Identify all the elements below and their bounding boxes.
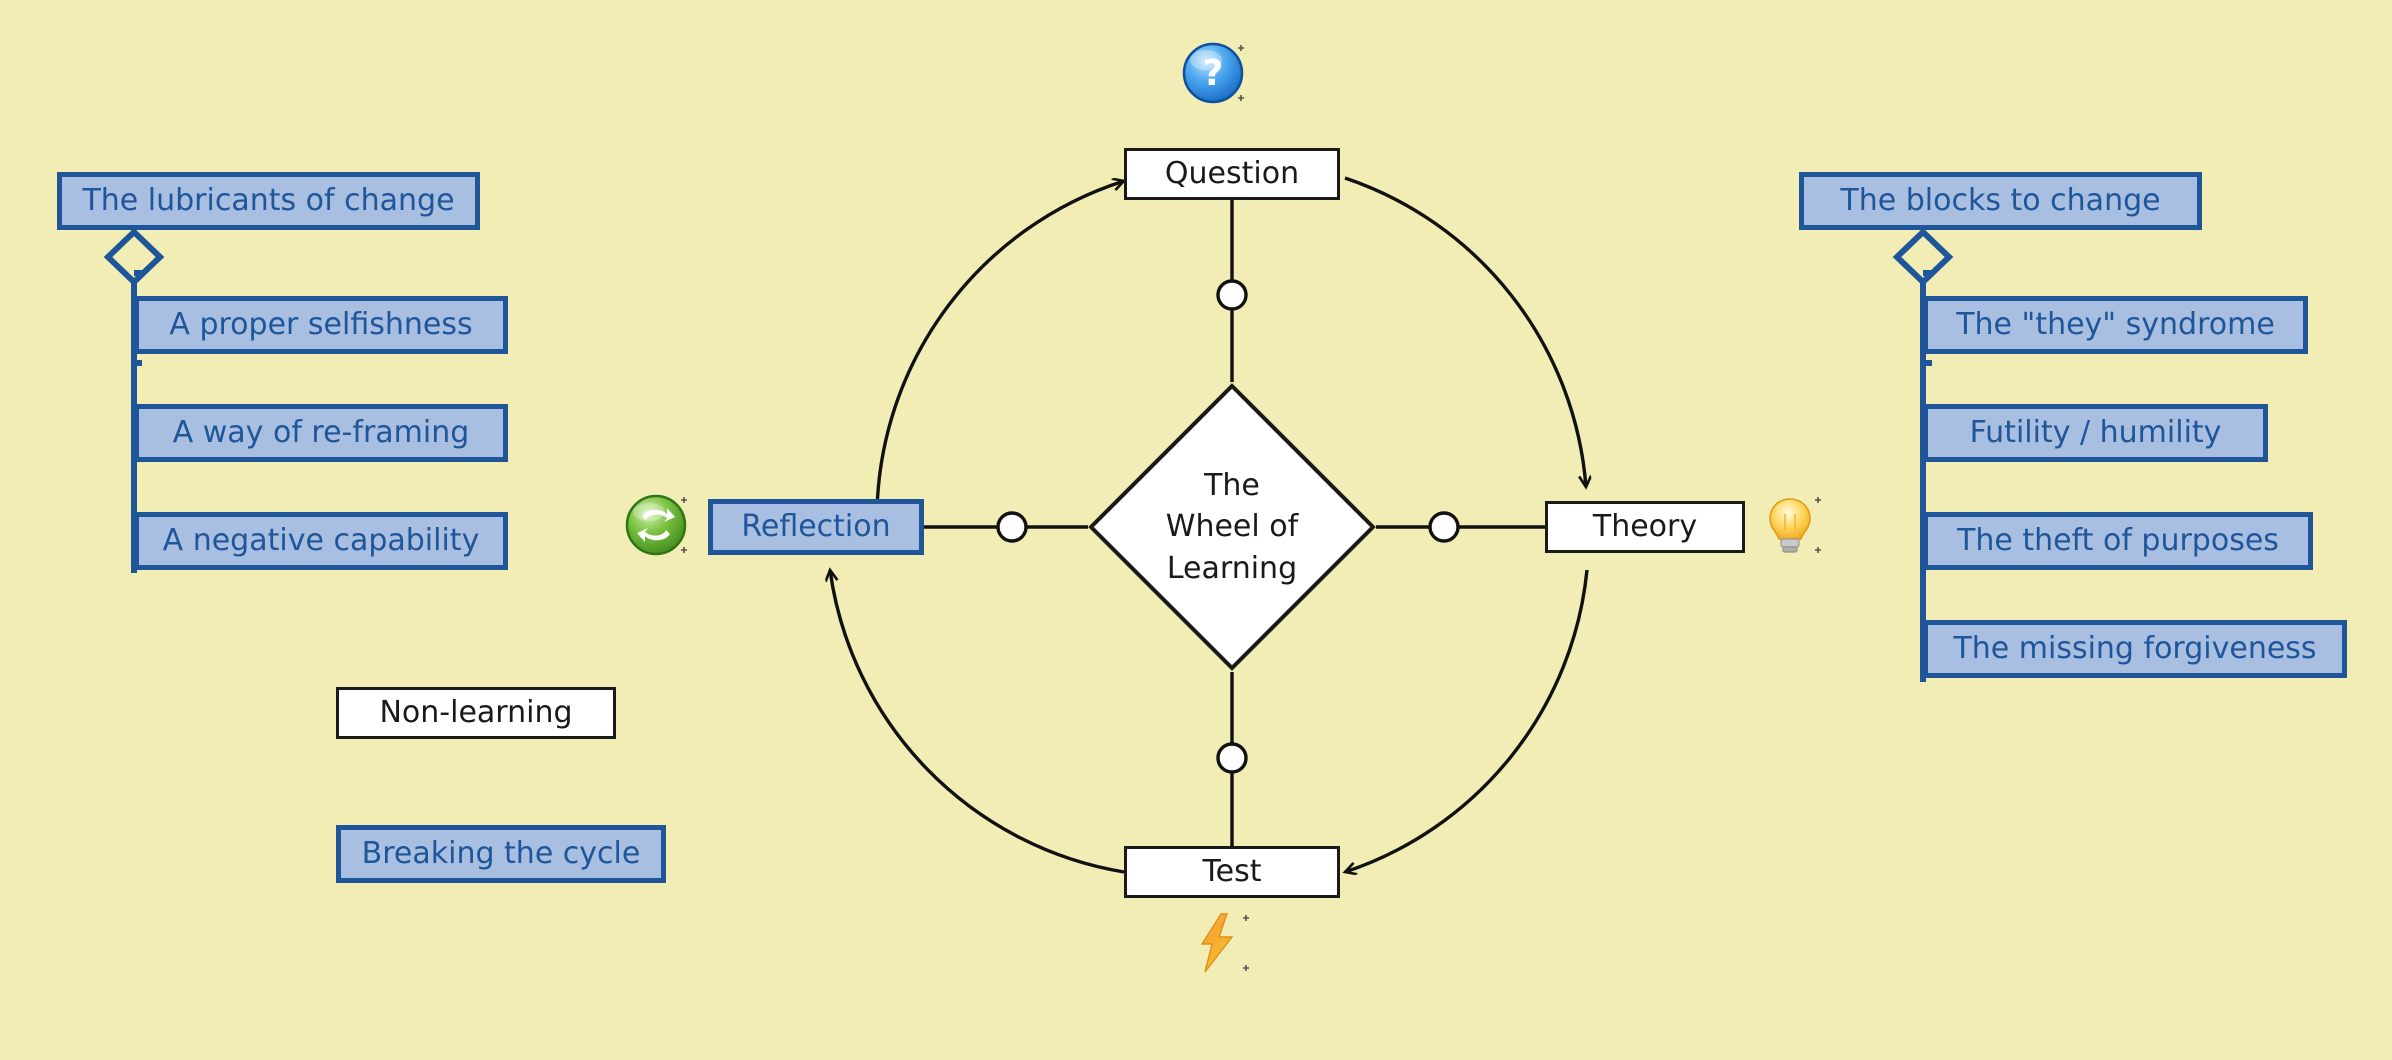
selection-handles	[1180, 40, 1246, 106]
node-test-label: Test	[1202, 857, 1261, 887]
left-group-title[interactable]: The lubricants of change	[57, 172, 480, 230]
edge-question-to-theory	[1345, 178, 1586, 487]
left-group-item-2[interactable]: A way of re-framing	[134, 404, 508, 462]
lightbulb-icon[interactable]	[1757, 492, 1823, 558]
spoke-endpoint-test	[1218, 744, 1246, 772]
node-non-learning[interactable]: Non-learning	[336, 687, 616, 739]
node-breaking-the-cycle-label: Breaking the cycle	[362, 839, 641, 869]
left-group-item-1[interactable]: A proper selfishness	[134, 296, 508, 354]
selection-handles	[1185, 910, 1251, 976]
edge-theory-to-test	[1345, 570, 1587, 872]
spoke-endpoint-question	[1218, 281, 1246, 309]
left-group-item-1-label: A proper selfishness	[169, 310, 472, 340]
question-mark-icon[interactable]: ?	[1180, 40, 1246, 106]
right-group-item-2-label: Futility / humility	[1970, 418, 2222, 448]
right-group-item-3[interactable]: The theft of purposes	[1923, 512, 2313, 570]
diagram-canvas: The Wheel of Learning Question ?	[0, 0, 2392, 1060]
left-group-item-2-label: A way of re-framing	[173, 418, 470, 448]
lightning-bolt-icon[interactable]	[1185, 910, 1251, 976]
wheel-of-learning-node[interactable]: The Wheel of Learning	[1087, 382, 1377, 672]
edge-test-to-reflection	[830, 570, 1124, 872]
node-breaking-the-cycle[interactable]: Breaking the cycle	[336, 825, 666, 883]
right-group-item-2[interactable]: Futility / humility	[1923, 404, 2268, 462]
node-reflection[interactable]: Reflection	[708, 499, 924, 555]
wheel-label-line-2: Wheel of	[1166, 506, 1298, 547]
node-reflection-label: Reflection	[741, 512, 890, 542]
left-group-aggregation-diamond	[108, 232, 160, 282]
right-group-item-4[interactable]: The missing forgiveness	[1923, 620, 2347, 678]
right-group-item-1[interactable]: The "they" syndrome	[1923, 296, 2308, 354]
node-test[interactable]: Test	[1124, 846, 1340, 898]
right-group-item-3-label: The theft of purposes	[1957, 526, 2279, 556]
left-group-item-3-label: A negative capability	[163, 526, 480, 556]
right-group-aggregation-diamond	[1897, 232, 1949, 282]
node-question[interactable]: Question	[1124, 148, 1340, 200]
right-group-item-4-label: The missing forgiveness	[1953, 634, 2316, 664]
right-group-item-1-label: The "they" syndrome	[1956, 310, 2275, 340]
left-group-item-3[interactable]: A negative capability	[134, 512, 508, 570]
wheel-label-line-3: Learning	[1167, 548, 1297, 589]
wheel-of-learning-label: The Wheel of Learning	[1087, 382, 1377, 672]
wheel-label-line-1: The	[1204, 465, 1260, 506]
node-non-learning-label: Non-learning	[379, 698, 572, 728]
right-group-title[interactable]: The blocks to change	[1799, 172, 2202, 230]
spoke-endpoint-theory	[1430, 513, 1458, 541]
node-question-label: Question	[1165, 159, 1299, 189]
right-group-title-label: The blocks to change	[1840, 186, 2160, 216]
selection-handles	[1757, 492, 1823, 558]
spoke-endpoint-reflection	[998, 513, 1026, 541]
recycle-arrows-icon[interactable]	[623, 492, 689, 558]
node-theory[interactable]: Theory	[1545, 501, 1745, 553]
selection-handles	[623, 492, 689, 558]
node-theory-label: Theory	[1593, 512, 1697, 542]
left-group-title-label: The lubricants of change	[82, 186, 454, 216]
